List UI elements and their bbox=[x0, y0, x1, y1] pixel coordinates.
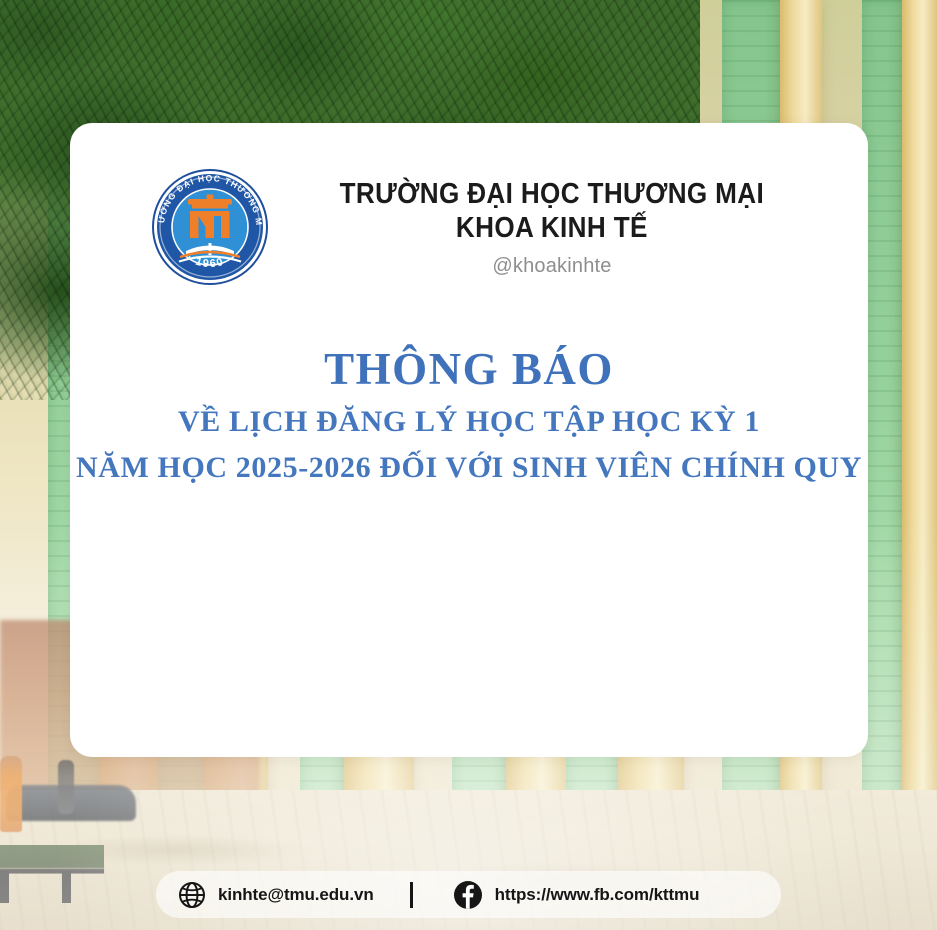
announcement-poster: TRƯỜNG ĐẠI HỌC THƯƠNG MẠI · 1960 · bbox=[0, 0, 937, 930]
globe-icon bbox=[178, 881, 206, 909]
faculty-name: KHOA KINH TẾ bbox=[340, 212, 765, 246]
facebook-contact[interactable]: https://www.fb.com/kttmu bbox=[453, 880, 700, 910]
footer-divider bbox=[410, 882, 413, 908]
card-header: TRƯỜNG ĐẠI HỌC THƯƠNG MẠI · 1960 · bbox=[70, 123, 868, 287]
background-person bbox=[0, 756, 22, 832]
email-text: kinhte@tmu.edu.vn bbox=[218, 885, 374, 905]
background-bench bbox=[0, 845, 104, 901]
announcement-title-block: THÔNG BÁO VỀ LỊCH ĐĂNG LÝ HỌC TẬP HỌC KỲ… bbox=[70, 345, 868, 487]
organization-name-block: TRƯỜNG ĐẠI HỌC THƯƠNG MẠI KHOA KINH TẾ @… bbox=[316, 176, 788, 277]
facebook-icon bbox=[453, 880, 483, 910]
facebook-url-text: https://www.fb.com/kttmu bbox=[495, 885, 700, 905]
content-card: TRƯỜNG ĐẠI HỌC THƯƠNG MẠI · 1960 · bbox=[70, 123, 868, 757]
social-handle: @khoakinhte bbox=[316, 255, 788, 278]
email-contact[interactable]: kinhte@tmu.edu.vn bbox=[178, 881, 374, 909]
footer-contact-bar: kinhte@tmu.edu.vn https://www.fb.com/ktt… bbox=[156, 871, 781, 918]
university-name: TRƯỜNG ĐẠI HỌC THƯƠNG MẠI bbox=[340, 178, 765, 212]
tmu-university-seal-icon: TRƯỜNG ĐẠI HỌC THƯƠNG MẠI · 1960 · bbox=[150, 167, 270, 287]
background-person bbox=[58, 760, 74, 814]
announcement-subtitle-line2: NĂM HỌC 2025-2026 ĐỐI VỚI SINH VIÊN CHÍN… bbox=[70, 449, 868, 487]
announcement-title: THÔNG BÁO bbox=[70, 345, 868, 395]
announcement-subtitle-line1: VỀ LỊCH ĐĂNG LÝ HỌC TẬP HỌC KỲ 1 bbox=[70, 403, 868, 441]
